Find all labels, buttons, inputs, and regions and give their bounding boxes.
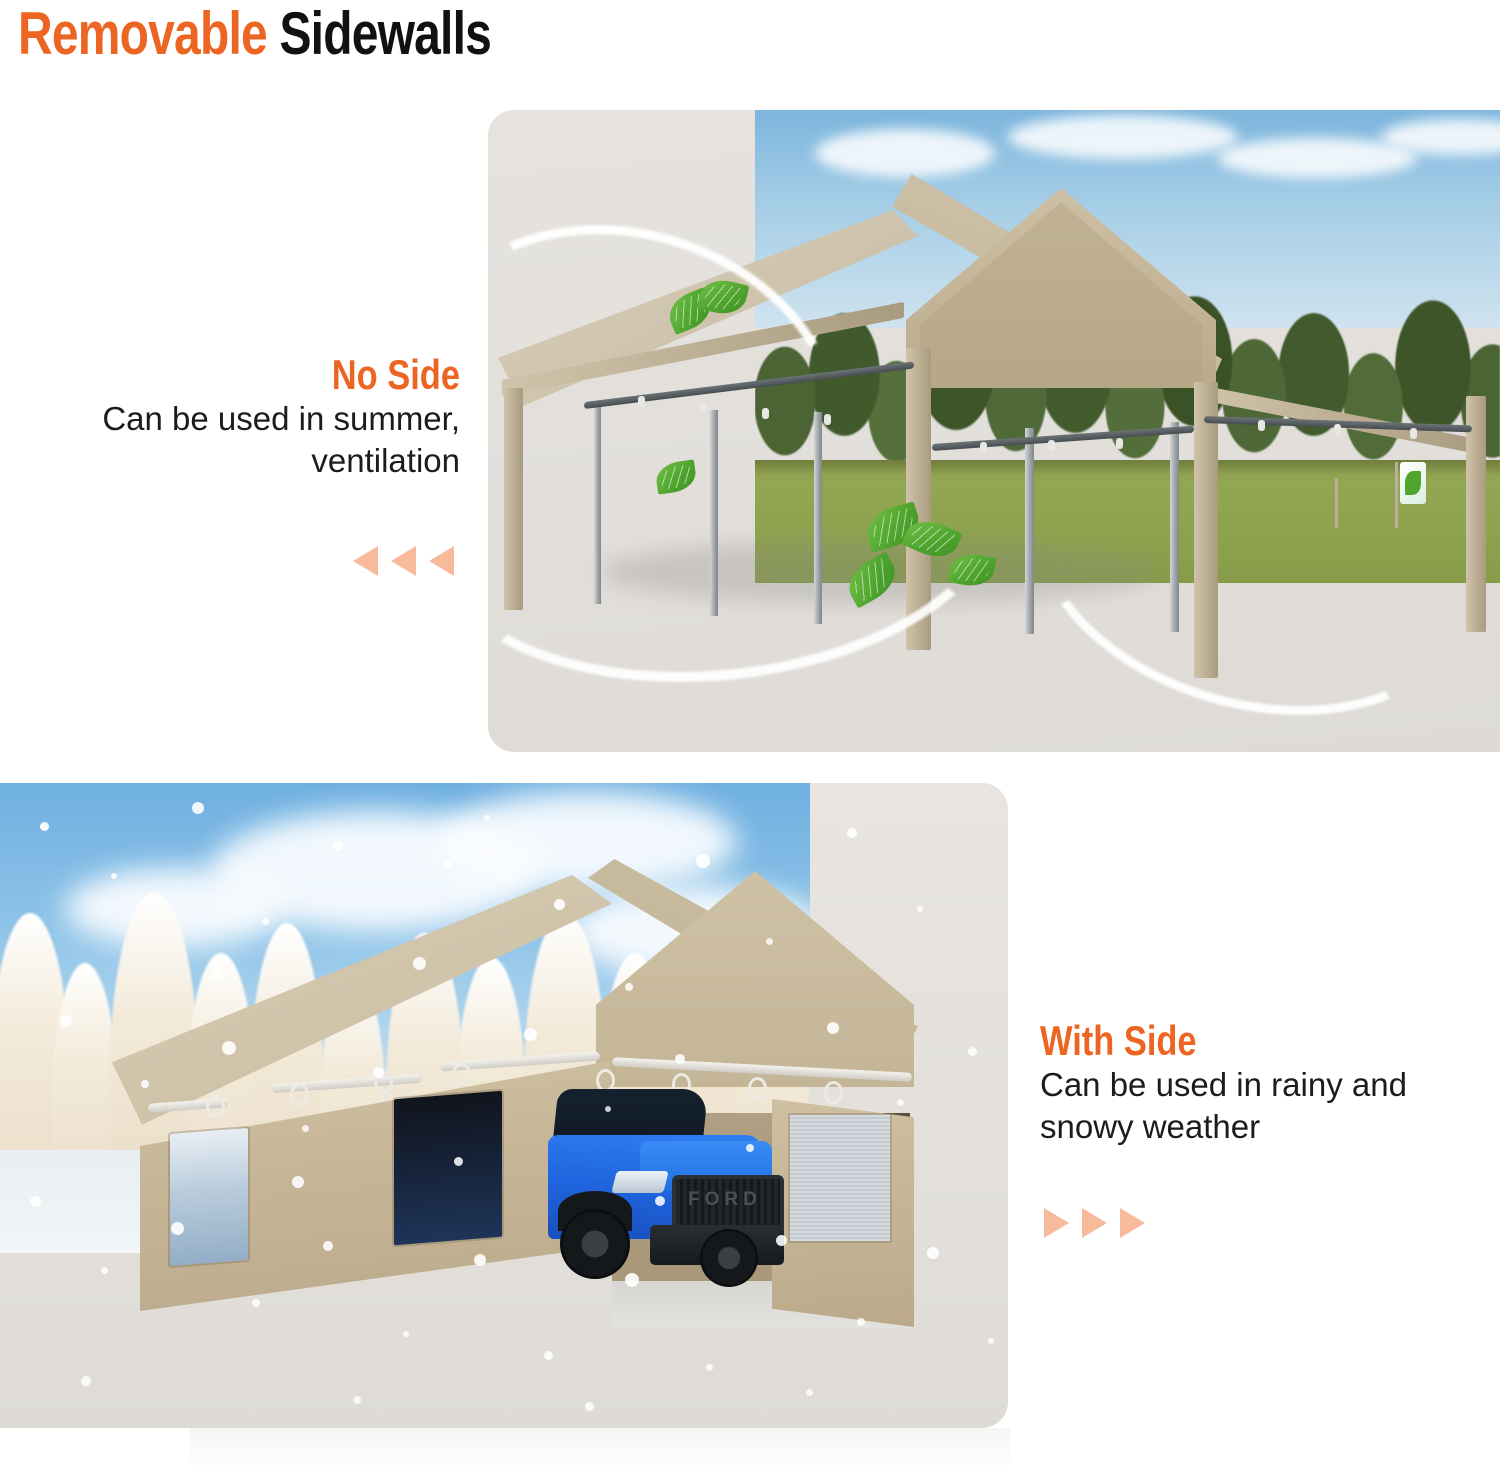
curtain-ring [374,1071,393,1094]
truck-wheel [560,1209,630,1279]
with-side-heading: With Side [1040,1018,1393,1064]
triangle-right-icon [1082,1208,1107,1238]
bottom-fade-strip [190,1428,1010,1466]
no-side-body-line-1: Can be used in summer, [40,398,460,440]
truck-headlight [611,1171,668,1193]
curtain-ring [290,1083,309,1106]
no-side-info-block: No Side Can be used in summer, ventilati… [40,352,460,576]
sidewall-window [170,1128,248,1266]
triangle-left-icon [391,546,416,576]
rail-clip [1048,440,1055,451]
triangle-left-icon [353,546,378,576]
page-title: Removable Sidewalls [18,2,491,66]
truck-brand-text: FORD [688,1189,762,1211]
with-side-info-block: With Side Can be used in rainy and snowy… [1040,1018,1470,1238]
rail-clip [1410,428,1417,439]
truck-wheel [700,1229,758,1287]
with-side-image-card: FORD [0,783,1008,1428]
triangle-right-icon [1120,1208,1145,1238]
airflow-arc [996,354,1500,752]
open-carport-illustration [488,110,1500,752]
no-side-heading: No Side [116,352,460,398]
page-title-accent: Removable [18,0,267,67]
leaf-icon [654,459,698,494]
no-side-arrow-group [40,546,460,576]
with-side-body-line-2: snowy weather [1040,1106,1470,1148]
curtain-ring [452,1063,471,1086]
triangle-left-icon [429,546,454,576]
page-title-main: Sidewalls [279,0,491,67]
infographic-canvas: Removable Sidewalls [0,0,1500,1466]
with-side-body-line-1: Can be used in rainy and [1040,1064,1470,1106]
no-side-image-card [488,110,1500,752]
no-side-body-line-2: ventilation [40,440,460,482]
curtain-ring [206,1095,225,1118]
triangle-right-icon [1044,1208,1069,1238]
with-side-arrow-group [1040,1208,1470,1238]
enclosed-carport-illustration: FORD [0,783,1008,1428]
truck-group: FORD [548,1079,848,1309]
sidewall-window [394,1091,502,1245]
